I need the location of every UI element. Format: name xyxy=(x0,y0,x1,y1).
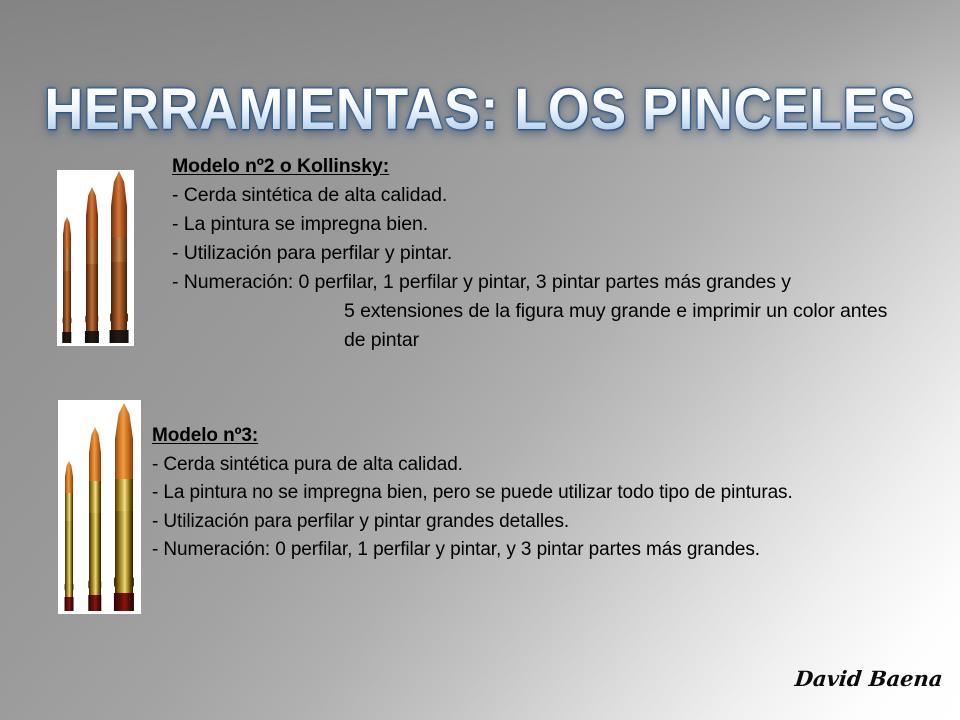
brush-ferrule xyxy=(65,493,73,523)
brush-bristle-icon xyxy=(89,427,101,483)
brush-small xyxy=(65,459,73,611)
brush-bristle-icon xyxy=(86,187,98,241)
brush-handle xyxy=(86,264,98,332)
brush-bristle-icon xyxy=(63,217,71,251)
brush-butt xyxy=(62,332,71,343)
brush-large xyxy=(115,405,133,611)
brush-small xyxy=(63,211,71,343)
list-item: - Numeración: 0 perfilar, 1 perfilar y p… xyxy=(152,536,952,565)
presentation-slide: HERRAMIENTAS: LOS PINCELES xyxy=(0,0,960,720)
text-block-modelo-3: Modelo nº3: - Cerda sintética pura de al… xyxy=(152,422,952,565)
brush-handle xyxy=(65,521,73,599)
brush-ferrule xyxy=(111,237,127,265)
brush-bristle-icon xyxy=(115,403,133,481)
brush-large xyxy=(111,173,127,343)
brush-butt xyxy=(114,593,134,611)
page-title: HERRAMIENTAS: LOS PINCELES xyxy=(34,77,927,143)
brushes-photo-modelo3 xyxy=(58,400,141,614)
brush-bristle-icon xyxy=(111,171,127,239)
list-item: - La pintura no se impregna bien, pero s… xyxy=(152,479,952,508)
brush-butt xyxy=(110,330,129,343)
brush-ferrule xyxy=(63,249,71,273)
brush-ferrule xyxy=(86,239,98,267)
block-heading: Modelo nº2 o Kollinsky: xyxy=(172,152,960,181)
list-item: - Numeración: 0 perfilar, 1 perfilar y p… xyxy=(172,268,960,297)
author-signature: David Baena xyxy=(794,666,944,691)
text-block-modelo-2: Modelo nº2 o Kollinsky: - Cerda sintétic… xyxy=(172,152,960,355)
brush-medium xyxy=(86,188,98,343)
list-item: - Utilización para perfilar y pintar gra… xyxy=(152,508,952,537)
brush-ferrule xyxy=(115,479,133,513)
list-item: - La pintura se impregna bien. xyxy=(172,210,960,239)
list-item: - Cerda sintética de alta calidad. xyxy=(172,181,960,210)
list-item-continuation: de pintar xyxy=(172,326,960,355)
block-heading: Modelo nº3: xyxy=(152,422,952,451)
list-item: - Cerda sintética pura de alta calidad. xyxy=(152,451,952,480)
brushes-photo-kollinsky xyxy=(57,170,134,346)
brush-handle xyxy=(63,271,71,333)
list-item-continuation: 5 extensiones de la figura muy grande e … xyxy=(172,297,960,326)
brush-butt xyxy=(88,595,101,611)
brush-handle xyxy=(89,513,101,597)
brush-medium xyxy=(89,428,101,611)
brush-handle xyxy=(111,262,127,331)
list-item: - Utilización para perfilar y pintar. xyxy=(172,239,960,268)
brush-ferrule xyxy=(89,481,101,515)
brush-butt xyxy=(65,597,74,611)
brush-bristle-icon xyxy=(65,461,73,495)
brush-butt xyxy=(85,331,99,343)
brush-handle xyxy=(115,511,133,595)
